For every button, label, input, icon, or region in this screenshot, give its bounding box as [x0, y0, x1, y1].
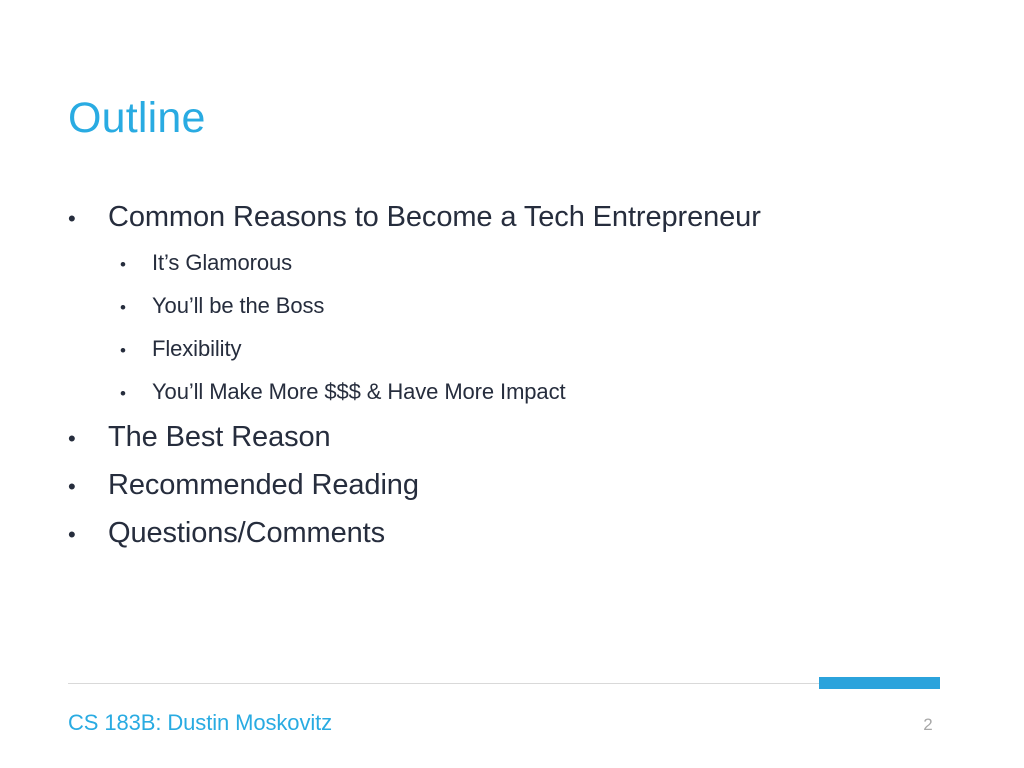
bullet-dot-icon: • — [120, 334, 152, 367]
list-item: • Recommended Reading — [68, 466, 948, 506]
list-item-label: Questions/Comments — [108, 514, 385, 552]
list-item: • It’s Glamorous — [68, 246, 948, 281]
list-item-label: Recommended Reading — [108, 466, 419, 504]
outline-list: • Common Reasons to Become a Tech Entrep… — [68, 198, 948, 562]
bullet-dot-icon: • — [120, 377, 152, 410]
bullet-dot-icon: • — [68, 516, 108, 554]
list-item: • You’ll Make More $$$ & Have More Impac… — [68, 375, 948, 410]
list-item-label: Common Reasons to Become a Tech Entrepre… — [108, 198, 761, 236]
bullet-dot-icon: • — [120, 248, 152, 281]
list-item-label: You’ll be the Boss — [152, 289, 324, 322]
slide-canvas: Outline • Common Reasons to Become a Tec… — [0, 0, 1024, 768]
list-item-label: Flexibility — [152, 332, 241, 365]
list-item: • Flexibility — [68, 332, 948, 367]
outline-sublist: • It’s Glamorous • You’ll be the Boss • … — [68, 246, 948, 410]
bullet-dot-icon: • — [68, 200, 108, 238]
list-item-label: It’s Glamorous — [152, 246, 292, 279]
page-number: 2 — [908, 713, 948, 737]
footer-course-label: CS 183B: Dustin Moskovitz — [68, 708, 332, 738]
list-item: • You’ll be the Boss — [68, 289, 948, 324]
list-item: • The Best Reason — [68, 418, 948, 458]
footer-divider — [68, 683, 820, 684]
footer-progress-bar — [819, 677, 940, 689]
list-item-label: You’ll Make More $$$ & Have More Impact — [152, 375, 565, 408]
bullet-dot-icon: • — [68, 420, 108, 458]
list-item: • Common Reasons to Become a Tech Entrep… — [68, 198, 948, 238]
bullet-dot-icon: • — [120, 291, 152, 324]
list-item: • Questions/Comments — [68, 514, 948, 554]
page-title: Outline — [68, 92, 206, 144]
bullet-dot-icon: • — [68, 468, 108, 506]
list-item-label: The Best Reason — [108, 418, 331, 456]
